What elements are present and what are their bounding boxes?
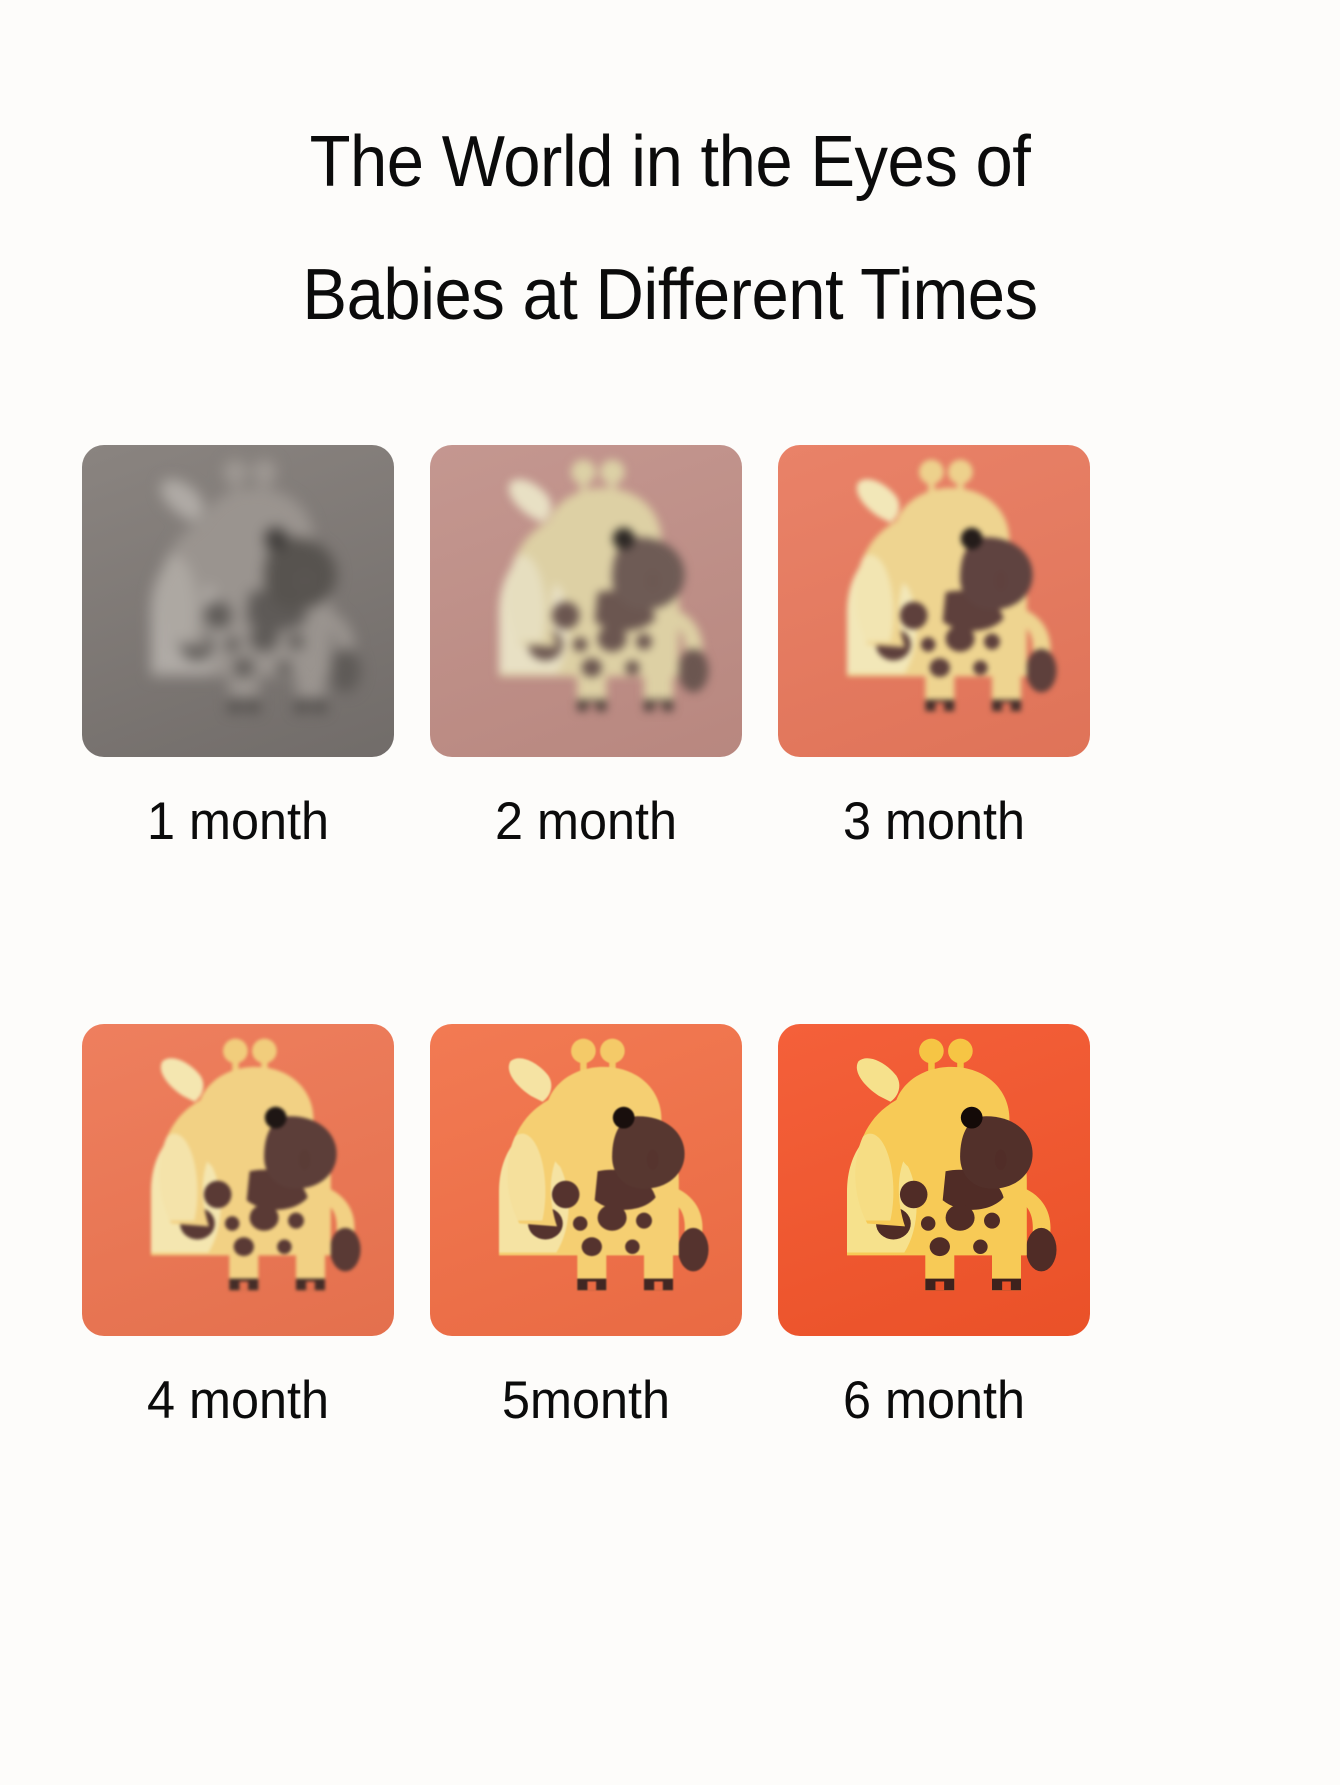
giraffe-illustration <box>441 456 731 746</box>
giraffe-icon <box>789 456 1079 746</box>
stage-label-6: 6 month <box>786 1374 1082 1427</box>
giraffe-icon <box>441 1035 731 1325</box>
vision-tile-3[interactable] <box>778 445 1090 757</box>
page-title-line-2: Babies at Different Times <box>47 229 1293 362</box>
giraffe-icon <box>93 456 383 746</box>
stage-row-2: 4 month <box>82 1024 1092 1427</box>
stage-label-1: 1 month <box>90 795 386 848</box>
giraffe-illustration <box>789 456 1079 746</box>
stage-row-1: 1 month <box>82 445 1092 848</box>
vision-tile-4[interactable] <box>82 1024 394 1336</box>
stage-cell-4: 4 month <box>82 1024 394 1427</box>
stage-label-2: 2 month <box>438 795 734 848</box>
vision-tile-6[interactable] <box>778 1024 1090 1336</box>
stage-label-3: 3 month <box>786 795 1082 848</box>
giraffe-illustration <box>789 1035 1079 1325</box>
stage-grid: 1 month <box>82 445 1092 1427</box>
giraffe-illustration <box>93 456 383 746</box>
giraffe-icon <box>789 1035 1079 1325</box>
giraffe-illustration <box>93 1035 383 1325</box>
stage-label-4: 4 month <box>90 1374 386 1427</box>
stage-label-5: 5month <box>438 1374 734 1427</box>
poster-page: The World in the Eyes of Babies at Diffe… <box>0 0 1340 1785</box>
page-title-line-1: The World in the Eyes of <box>47 96 1293 229</box>
stage-cell-2: 2 month <box>430 445 742 848</box>
stage-cell-6: 6 month <box>778 1024 1090 1427</box>
page-title: The World in the Eyes of Babies at Diffe… <box>47 96 1293 362</box>
stage-cell-3: 3 month <box>778 445 1090 848</box>
stage-cell-5: 5month <box>430 1024 742 1427</box>
vision-tile-5[interactable] <box>430 1024 742 1336</box>
giraffe-icon <box>441 456 731 746</box>
giraffe-illustration <box>441 1035 731 1325</box>
giraffe-icon <box>93 1035 383 1325</box>
stage-cell-1: 1 month <box>82 445 394 848</box>
vision-tile-2[interactable] <box>430 445 742 757</box>
vision-tile-1[interactable] <box>82 445 394 757</box>
